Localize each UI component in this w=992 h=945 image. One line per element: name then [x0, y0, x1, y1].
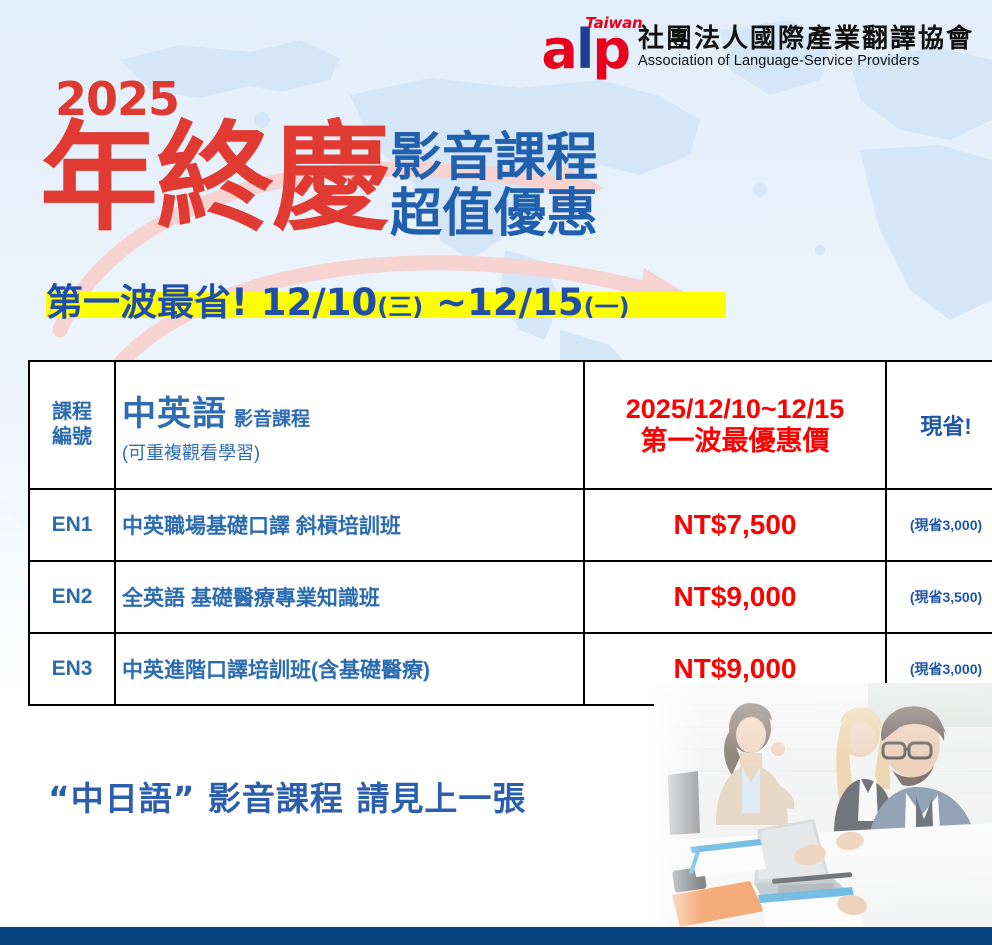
logo-superscript-taiwan: Taiwan: [585, 17, 642, 29]
row-code-text: EN3: [52, 657, 93, 680]
date-banner: 第一波最省! 12/10(三) ~12/15(一): [46, 272, 630, 310]
row-name-text: 中英職場基礎口譯 斜槓培訓班: [122, 515, 401, 538]
header-name-sub: 影音課程: [234, 404, 310, 431]
row-save-text: (現省3,500): [910, 589, 982, 605]
logo-letter-a: a: [541, 18, 575, 81]
date-label: 第一波最省!: [46, 281, 248, 324]
header-cell-price: 2025/12/10~12/15 第一波最優惠價: [584, 361, 886, 489]
promo-poster: alp Taiwan 社團法人國際產業翻譯協會 Association of L…: [0, 0, 992, 945]
organization-logo: alp Taiwan 社團法人國際產業翻譯協會 Association of L…: [541, 24, 974, 72]
row-save-text: (現省3,000): [910, 661, 982, 677]
alp-wordmark: alp: [541, 28, 629, 72]
row-name-text: 中英進階口譯培訓班(含基礎醫療): [122, 659, 430, 682]
row-cell-name: 中英進階口譯培訓班(含基礎醫療): [115, 633, 584, 705]
headline-main: 年終慶: [40, 118, 388, 238]
date-range-start-day: (三): [377, 293, 423, 321]
headline-subtitle-line2: 超值優惠: [390, 186, 598, 242]
date-separator: ~: [436, 281, 467, 324]
row-code-text: EN2: [52, 585, 93, 608]
headline-subtitle: 影音課程 超值優惠: [390, 130, 598, 242]
organization-name-en: Association of Language-Service Provider…: [638, 53, 919, 70]
row-cell-code: EN2: [29, 561, 115, 633]
row-price-text: NT$9,000: [674, 653, 797, 684]
bottom-accent-bar: [0, 927, 992, 945]
row-name-text: 全英語 基礎醫療專業知識班: [122, 587, 380, 610]
header-name-main: 中英語: [122, 386, 227, 435]
row-cell-price: NT$7,500: [584, 489, 886, 561]
header-code-line1: 課程: [36, 400, 108, 425]
row-save-text: (現省3,000): [910, 517, 982, 533]
row-code-text: EN1: [52, 513, 93, 536]
header-save-label: 現省!: [893, 409, 992, 441]
header-price-line2: 第一波最優惠價: [591, 425, 879, 457]
row-cell-name: 中英職場基礎口譯 斜槓培訓班: [115, 489, 584, 561]
table-row: EN2 全英語 基礎醫療專業知識班 NT$9,000 (現省3,500): [29, 561, 992, 633]
row-price-text: NT$7,500: [674, 509, 797, 540]
header-cell-save: 現省!: [886, 361, 992, 489]
header-code-line2: 編號: [36, 425, 108, 450]
date-range-end: 12/15: [467, 281, 584, 324]
organization-name-block: 社團法人國際產業翻譯協會 Association of Language-Ser…: [638, 24, 974, 72]
date-range-end-day: (一): [584, 293, 630, 321]
row-cell-price: NT$9,000: [584, 561, 886, 633]
header-price-line1: 2025/12/10~12/15: [591, 393, 879, 425]
table-header-row: 課程 編號 中英語影音課程 (可重複觀看學習) 2025/12/10~12/15…: [29, 361, 992, 489]
row-cell-save: (現省3,000): [886, 489, 992, 561]
header-cell-name: 中英語影音課程 (可重複觀看學習): [115, 361, 584, 489]
header-cell-code: 課程 編號: [29, 361, 115, 489]
course-price-table: 課程 編號 中英語影音課程 (可重複觀看學習) 2025/12/10~12/15…: [28, 360, 992, 706]
row-cell-save: (現省3,500): [886, 561, 992, 633]
row-cell-code: EN1: [29, 489, 115, 561]
organization-name-zh: 社團法人國際產業翻譯協會: [638, 24, 974, 53]
headline-row: 年終慶 影音課程 超值優惠: [40, 118, 598, 242]
header-name-note: (可重複觀看學習): [122, 439, 577, 465]
row-cell-code: EN3: [29, 633, 115, 705]
footer-note: “中日語” 影音課程 請見上一張: [48, 772, 526, 820]
business-meeting-photo: [654, 683, 992, 927]
alp-logomark: alp Taiwan: [541, 28, 629, 72]
table-row: EN1 中英職場基礎口譯 斜槓培訓班 NT$7,500 (現省3,000): [29, 489, 992, 561]
headline-subtitle-line1: 影音課程: [390, 130, 598, 186]
row-price-text: NT$9,000: [674, 581, 797, 612]
row-cell-name: 全英語 基礎醫療專業知識班: [115, 561, 584, 633]
date-range-start: 12/10: [261, 281, 378, 324]
date-banner-text: 第一波最省! 12/10(三) ~12/15(一): [46, 272, 630, 326]
